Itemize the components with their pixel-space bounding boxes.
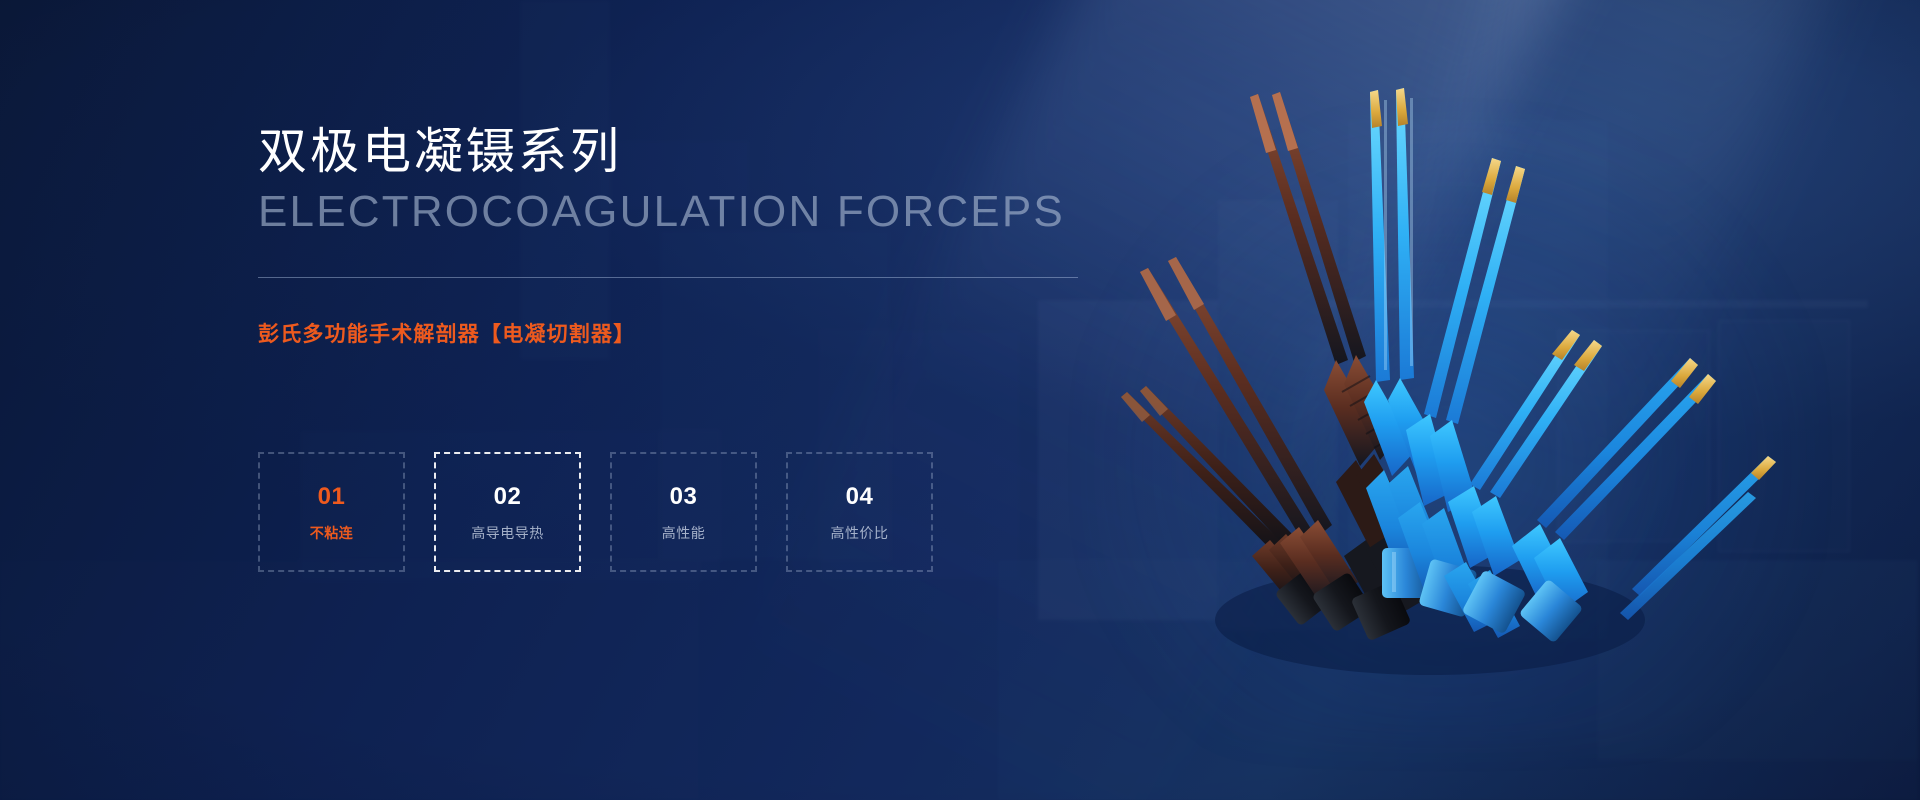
feature-label: 高性价比 [831, 526, 889, 540]
bg-shape [1598, 560, 1918, 760]
page-subtitle-en: ELECTROCOAGULATION FORCEPS [258, 189, 1088, 235]
bg-shape [0, 560, 700, 800]
feature-item-03[interactable]: 03 高性能 [610, 452, 757, 572]
feature-number: 03 [670, 485, 698, 509]
feature-item-01[interactable]: 01 不粘连 [258, 452, 405, 572]
background-left-structures [0, 0, 1114, 800]
feature-label: 高导电导热 [471, 526, 544, 540]
background-room-structures [998, 0, 1920, 800]
divider [258, 277, 1078, 278]
feature-label: 不粘连 [310, 526, 354, 540]
product-banner: 双极电凝镊系列 ELECTROCOAGULATION FORCEPS 彭氏多功能… [0, 0, 1920, 800]
bg-shape [1718, 320, 1850, 552]
bg-shape [1558, 330, 1710, 542]
page-title: 双极电凝镊系列 [258, 128, 1088, 177]
bg-shape [1328, 300, 1868, 308]
feature-label: 高性能 [662, 526, 706, 540]
feature-list: 01 不粘连 02 高导电导热 03 高性能 04 高性价比 [258, 452, 933, 572]
product-subtitle: 彭氏多功能手术解剖器【电凝切割器】 [258, 318, 1088, 348]
feature-number: 04 [846, 485, 874, 509]
feature-item-04[interactable]: 04 高性价比 [786, 452, 933, 572]
feature-number: 01 [318, 485, 346, 509]
feature-item-02[interactable]: 02 高导电导热 [434, 452, 581, 572]
feature-number: 02 [494, 485, 522, 509]
banner-text-block: 双极电凝镊系列 ELECTROCOAGULATION FORCEPS 彭氏多功能… [258, 128, 1088, 348]
